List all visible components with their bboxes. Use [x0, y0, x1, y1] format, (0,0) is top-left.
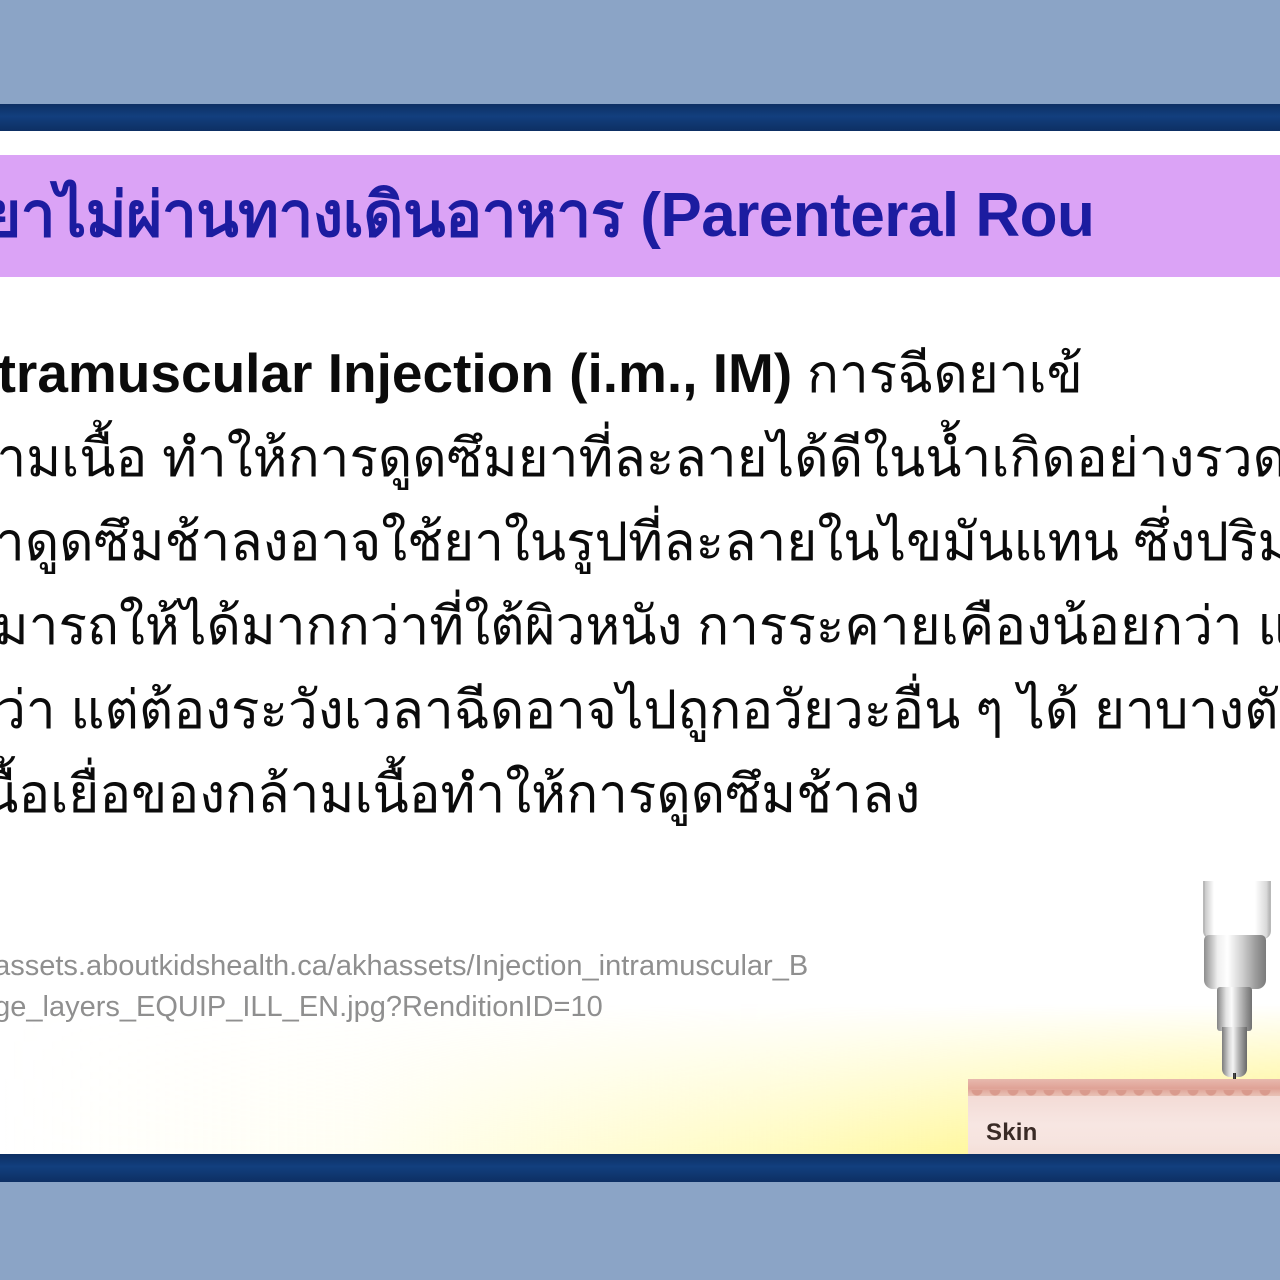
slide-canvas: รให้ยาไม่ผ่านทางเดินอาหาร (Parenteral Ro…	[0, 131, 1280, 1154]
source-url: //assets.aboutkidshealth.ca/akhassets/In…	[0, 946, 808, 1028]
syringe-cone-icon	[1217, 987, 1252, 1031]
source-url-line: nge_layers_EQUIP_ILL_EN.jpg?RenditionID=…	[0, 987, 808, 1028]
skin-layer-label: Skin	[986, 1119, 1037, 1147]
body-heading-thai: การฉีดยาเข้	[792, 345, 1083, 404]
viewer-bottom-bar	[0, 1154, 1280, 1182]
slide-viewer: รให้ยาไม่ผ่านทางเดินอาหาร (Parenteral Ro…	[0, 0, 1280, 1280]
syringe-shank-icon	[1222, 1027, 1247, 1077]
slide-title-band: รให้ยาไม่ผ่านทางเดินอาหาร (Parenteral Ro…	[0, 155, 1280, 277]
page-title: รให้ยาไม่ผ่านทางเดินอาหาร (Parenteral Ro…	[0, 183, 1094, 248]
body-line: ยาดูดซึมช้าลงอาจใช้ยาในรูปที่ละลายในไขมั…	[0, 501, 1280, 585]
body-line: ามารถให้ได้มากกว่าที่ใต้ผิวหนัง การระคาย…	[0, 585, 1280, 669]
source-url-line: //assets.aboutkidshealth.ca/akhassets/In…	[0, 946, 808, 987]
body-line: ล้ามเนื้อ ทำให้การดูดซึมยาที่ละลายได้ดีใ…	[0, 417, 1280, 501]
intramuscular-injection-diagram: Skin Subcutaneous tissue Muscle	[968, 741, 1280, 1154]
epidermis-layer	[968, 1079, 1280, 1096]
body-heading-english: ntramuscular Injection (i.m., IM)	[0, 342, 792, 404]
syringe-barrel-icon	[1203, 881, 1271, 939]
syringe-hub-icon	[1204, 935, 1266, 989]
viewer-top-bar	[0, 104, 1280, 131]
body-line: ntramuscular Injection (i.m., IM) การฉีด…	[0, 331, 1280, 417]
